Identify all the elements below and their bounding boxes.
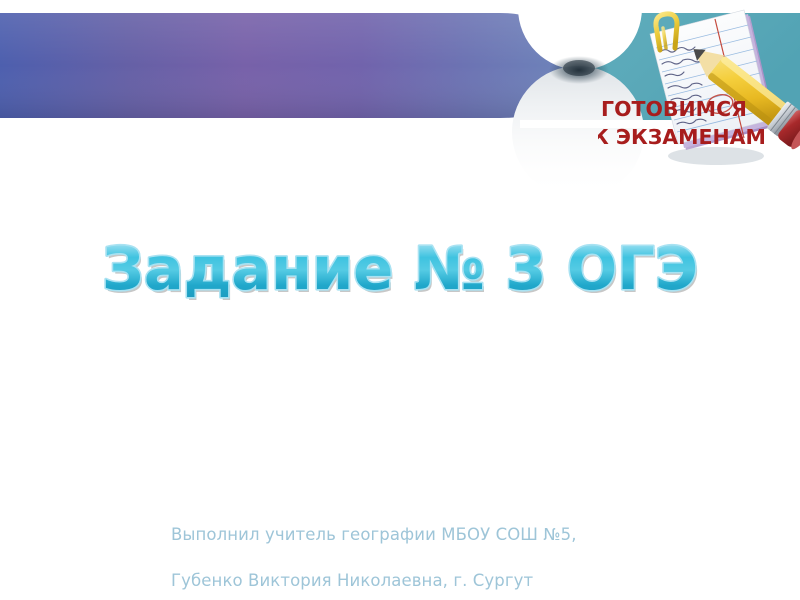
exam-preparation-clipart: ГОТОВИМСЯ К ЭКЗАМЕНАМ [598, 8, 800, 173]
subtitle-line-1: Выполнил учитель географии МБОУ СОШ №5, [171, 523, 691, 546]
clipart-shadow [668, 147, 764, 165]
slide-title-container: Задание № 3 ОГЭ Задание № 3 ОГЭ Задание … [0, 222, 800, 318]
subtitle-line-2: Губенко Виктория Николаевна, г. Сургут [171, 569, 691, 592]
title-fill-text: Задание № 3 ОГЭ [102, 234, 698, 303]
slide-title: Задание № 3 ОГЭ Задание № 3 ОГЭ Задание … [30, 222, 770, 318]
banner-purple-ribbon [0, 13, 582, 118]
slide-subtitle: Выполнил учитель географии МБОУ СОШ №5, … [171, 500, 691, 600]
caption-line-2: К ЭКЗАМЕНАМ [598, 125, 766, 149]
presentation-slide: ГОТОВИМСЯ К ЭКЗАМЕНАМ Задание № 3 ОГЭ За… [0, 0, 800, 600]
caption-line-1: ГОТОВИМСЯ [601, 97, 747, 121]
